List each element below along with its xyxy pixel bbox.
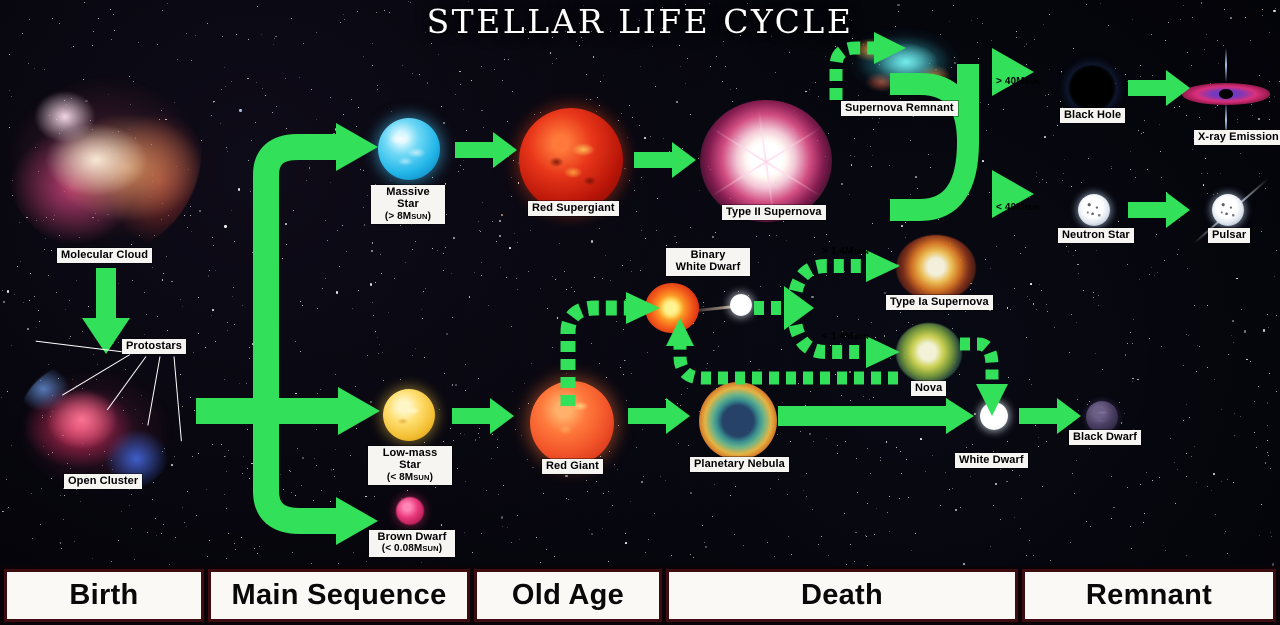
label-black-hole: Black Hole (1060, 108, 1125, 123)
arrow-split-main-sequence (188, 115, 388, 545)
label-low-mass-star: Low-mass Star (< 8MSUN) (368, 446, 452, 485)
label-brown-dwarf-mass: (< 0.08MSUN) (373, 543, 451, 554)
page-title: STELLAR LIFE CYCLE (0, 2, 1280, 41)
arrow-massive-to-supergiant (455, 132, 517, 168)
stage-old-age[interactable]: Old Age (474, 569, 662, 622)
planetary-nebula-image (699, 382, 777, 460)
label-brown-dwarf-name: Brown Dwarf (378, 531, 447, 543)
arrow-nova-return-loop (660, 322, 908, 388)
label-pulsar: Pulsar (1208, 228, 1250, 243)
label-low-mass-star-name: Low-mass Star (383, 447, 438, 471)
label-white-dwarf: White Dwarf (955, 453, 1028, 468)
stage-main-sequence-label: Main Sequence (231, 579, 446, 612)
neutron-star-image (1078, 194, 1110, 226)
label-binary-line2: White Dwarf (670, 261, 746, 273)
label-black-dwarf: Black Dwarf (1069, 430, 1141, 445)
arrow-supergiant-to-supernova (634, 142, 696, 178)
low-mass-star-image (383, 389, 435, 441)
arrow-redgiant-to-binary (560, 290, 664, 406)
label-nova: Nova (911, 381, 946, 396)
label-type-ia-supernova: Type Ia Supernova (886, 295, 993, 310)
stage-main-sequence[interactable]: Main Sequence (208, 569, 470, 622)
brown-dwarf-image (396, 497, 424, 525)
black-dwarf-image (1086, 401, 1118, 433)
arrow-label-lt-40msun: < 40MSUN (996, 202, 1040, 213)
label-open-cluster: Open Cluster (64, 474, 142, 489)
binary-white-dwarf-image (730, 294, 752, 316)
supernova-ray-3 (758, 110, 774, 213)
arrow-label-lt-1.4msun: < 1.4MSUN (822, 331, 869, 342)
label-red-supergiant: Red Supergiant (528, 201, 619, 216)
xray-jet-top (1225, 48, 1227, 82)
stage-remnant[interactable]: Remnant (1022, 569, 1276, 622)
stage-birth-label: Birth (69, 579, 138, 612)
xray-emission-image (1182, 66, 1270, 120)
black-hole-image (1068, 65, 1116, 111)
arrow-blackhole-to-xray (1128, 70, 1190, 106)
stage-remnant-label: Remnant (1086, 579, 1212, 612)
label-xray-emission: X-ray Emission (1194, 130, 1280, 145)
stage-death-label: Death (801, 579, 883, 612)
pulsar-image (1212, 194, 1244, 226)
label-binary-white-dwarf: Binary White Dwarf (666, 248, 750, 276)
label-low-mass-star-mass: (< 8MSUN) (372, 472, 448, 483)
red-supergiant-image (519, 108, 623, 212)
stellar-life-cycle-diagram: STELLAR LIFE CYCLE Molecular Cloud Open … (0, 0, 1280, 625)
label-binary-line1: Binary (691, 249, 726, 261)
label-massive-star: Massive Star (> 8MSUN) (371, 185, 445, 224)
stage-bar: Birth Main Sequence Old Age Death Remnan… (0, 566, 1280, 625)
label-massive-star-name: Massive Star (386, 186, 430, 210)
arrow-label-gt-40msun: > 40MSUN (996, 76, 1040, 87)
label-brown-dwarf: Brown Dwarf (< 0.08MSUN) (369, 530, 455, 557)
xray-black-hole-core (1219, 89, 1233, 99)
label-massive-star-mass: (> 8MSUN) (375, 211, 441, 222)
label-neutron-star: Neutron Star (1058, 228, 1134, 243)
arrow-nova-to-white-dwarf (958, 330, 1010, 416)
stage-old-age-label: Old Age (512, 579, 624, 612)
type-ii-supernova-image (700, 100, 832, 222)
label-molecular-cloud: Molecular Cloud (57, 248, 152, 263)
label-supernova-remnant: Supernova Remnant (841, 101, 958, 116)
label-type-ii-supernova: Type II Supernova (722, 205, 826, 220)
stage-birth[interactable]: Birth (4, 569, 204, 622)
arrow-planetary-nebula-to-white-dwarf (778, 398, 974, 434)
label-planetary-nebula: Planetary Nebula (690, 457, 789, 472)
label-red-giant: Red Giant (542, 459, 603, 474)
arrow-label-gt-1.4msun: > 1.4MSUN (822, 246, 869, 257)
arrow-white-to-black-dwarf (1019, 398, 1081, 434)
stage-death[interactable]: Death (666, 569, 1018, 622)
arrow-lowmass-to-redgiant (452, 398, 514, 434)
arrow-neutronstar-to-pulsar (1128, 192, 1190, 228)
label-protostars: Protostars (122, 339, 186, 354)
